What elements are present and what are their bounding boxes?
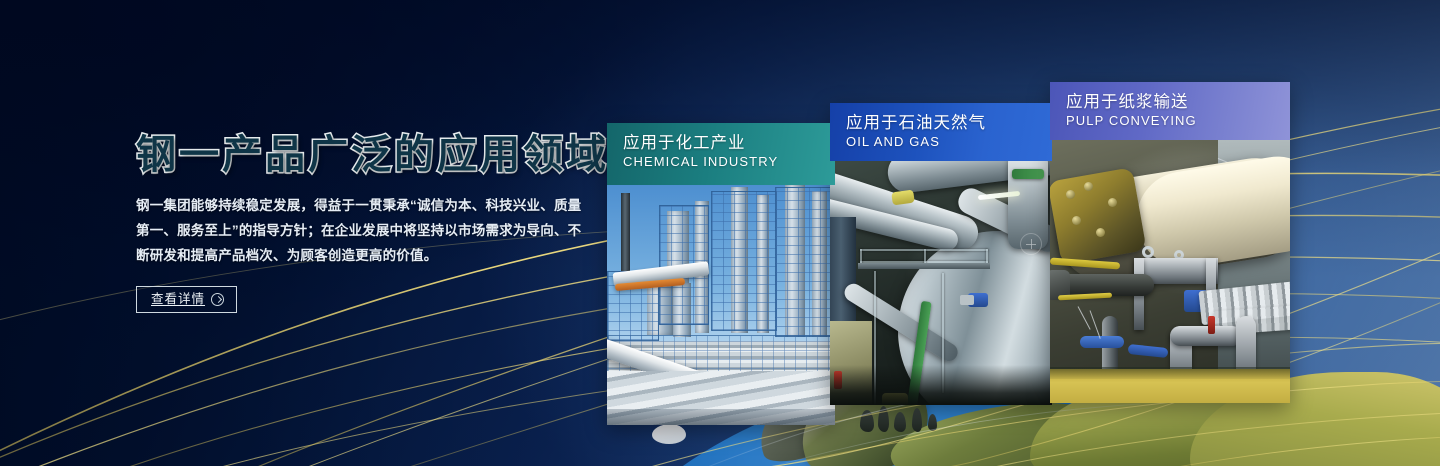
card-title-cn: 应用于纸浆输送 bbox=[1066, 91, 1290, 113]
card-image-oil-and-gas bbox=[830, 161, 1052, 405]
globe-islets bbox=[860, 406, 1060, 446]
category-card-pulp-conveying[interactable]: 应用于纸浆输送 PULP CONVEYING bbox=[1050, 82, 1290, 403]
card-title-cn: 应用于石油天然气 bbox=[846, 112, 1052, 134]
page-title: 钢一产品广泛的应用领域 bbox=[136, 134, 606, 177]
card-title-en: PULP CONVEYING bbox=[1066, 113, 1290, 130]
hero-copy-block: 钢一产品广泛的应用领域 钢一集团能够持续稳定发展，得益于一贯秉承“诚信为本、科技… bbox=[136, 134, 606, 313]
card-image-pulp-conveying bbox=[1050, 140, 1290, 403]
hero-banner: 钢一产品广泛的应用领域 钢一集团能够持续稳定发展，得益于一贯秉承“诚信为本、科技… bbox=[0, 0, 1440, 466]
card-title-cn: 应用于化工产业 bbox=[623, 132, 835, 154]
chevron-right-circle-icon bbox=[211, 293, 224, 306]
view-details-label: 查看详情 bbox=[151, 293, 205, 306]
card-header-pulp-conveying: 应用于纸浆输送 PULP CONVEYING bbox=[1050, 82, 1290, 140]
card-title-en: OIL AND GAS bbox=[846, 134, 1052, 151]
card-image-chemical bbox=[607, 185, 835, 425]
hero-description: 钢一集团能够持续稳定发展，得益于一贯秉承“诚信为本、科技兴业、质量第一、服务至上… bbox=[136, 193, 584, 268]
view-details-button[interactable]: 查看详情 bbox=[136, 286, 237, 313]
plus-icon[interactable] bbox=[1020, 233, 1042, 255]
card-header-oil-and-gas: 应用于石油天然气 OIL AND GAS bbox=[830, 103, 1052, 161]
category-card-oil-and-gas[interactable]: 应用于石油天然气 OIL AND GAS bbox=[830, 103, 1052, 405]
card-title-en: CHEMICAL INDUSTRY bbox=[623, 154, 835, 171]
globe-ice-cap-small bbox=[652, 424, 686, 444]
card-header-chemical: 应用于化工产业 CHEMICAL INDUSTRY bbox=[607, 123, 835, 185]
category-card-chemical[interactable]: 应用于化工产业 CHEMICAL INDUSTRY bbox=[607, 123, 835, 425]
